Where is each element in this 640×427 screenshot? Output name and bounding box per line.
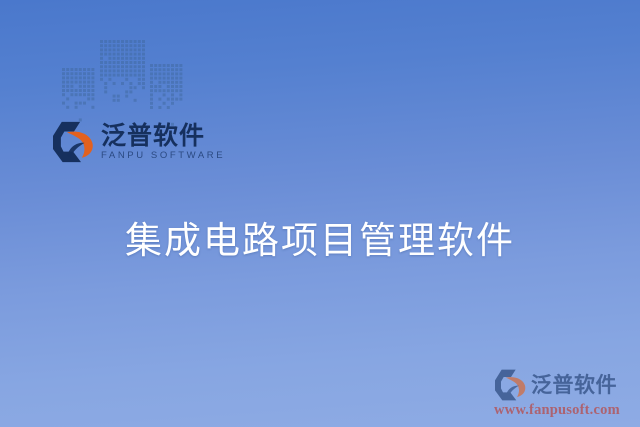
watermark-url: www.fanpusoft.com: [494, 402, 634, 419]
watermark-name-cn: 泛普软件: [531, 375, 617, 396]
brand-name-cn: 泛普软件: [101, 123, 225, 149]
watermark: 泛普软件 www.fanpusoft.com: [494, 369, 634, 419]
fanpu-logo-mark-icon: [494, 369, 528, 401]
brand-name-en: FANPU SOFTWARE: [101, 151, 225, 161]
brand-wordmark: 泛普软件 FANPU SOFTWARE: [101, 123, 225, 161]
brand-logo: 泛普软件 FANPU SOFTWARE: [52, 121, 225, 163]
page-title: 集成电路项目管理软件: [0, 210, 640, 264]
fanpu-logo-mark-icon: [52, 121, 96, 163]
slide-canvas: 泛普软件 FANPU SOFTWARE 集成电路项目管理软件 泛普软件 www.…: [0, 0, 640, 427]
watermark-lockup: 泛普软件: [494, 369, 634, 401]
pixel-skyline-graphic: [62, 26, 184, 126]
